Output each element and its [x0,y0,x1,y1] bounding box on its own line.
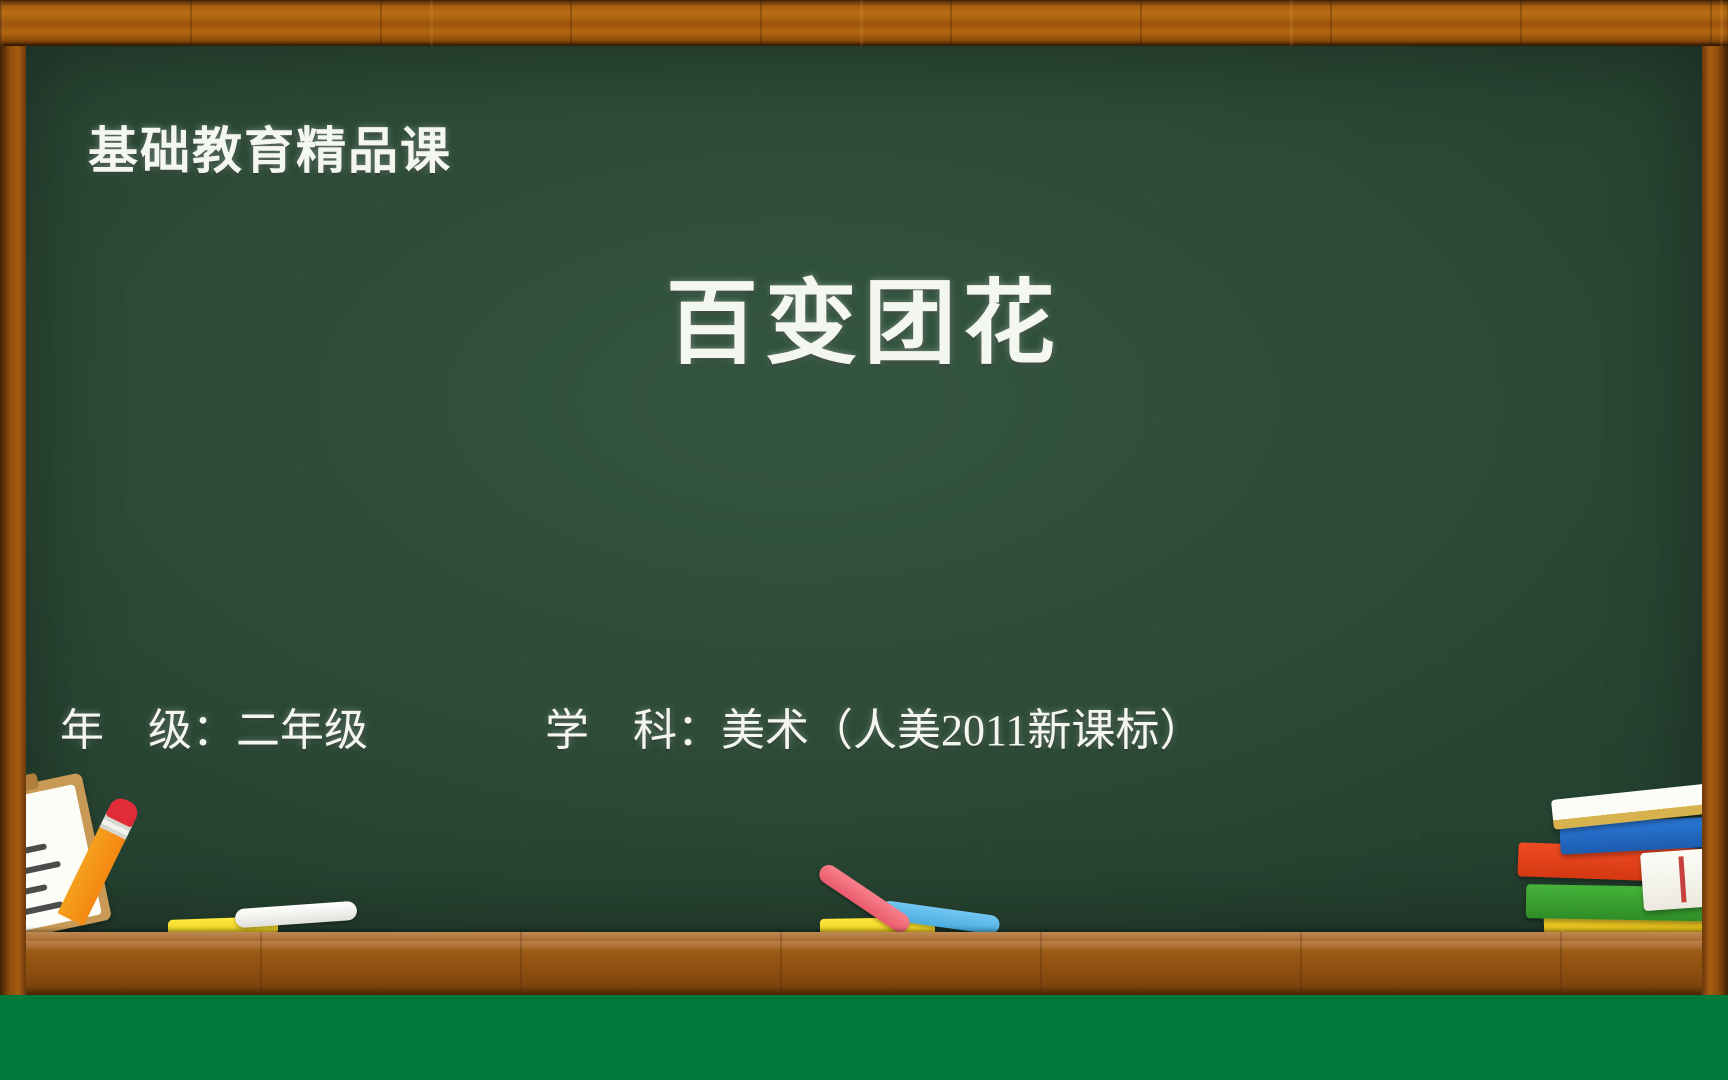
frame-right-rail [1702,0,1728,1010]
frame-top-rail [0,0,1728,46]
info-row-subject: 学 科：美术（人美2011新课标） [545,692,1337,770]
ledge-wood-grain [0,932,1728,995]
notebook-spine [1678,856,1686,902]
frame-left-rail [0,0,26,1010]
info-row-grade: 年 级：二年级 [60,692,368,770]
bottom-green-strip [0,995,1728,1080]
frame-wood-grain [0,0,1728,46]
page-title: 百变团花 [0,278,1728,370]
book-stack-icon [1474,790,1728,936]
lesson-info-block: 年 级：二年级 主讲人：严瑛 学 科：美术（人美2011新课标） 学 校：广东省… [0,536,1728,696]
program-kicker: 基础教育精品课 [88,126,452,176]
slide-stage: 基础教育精品课 百变团花 年 级：二年级 主讲人：严瑛 学 科：美术（人美201… [0,0,1728,1080]
chalk-ledge [0,932,1728,995]
